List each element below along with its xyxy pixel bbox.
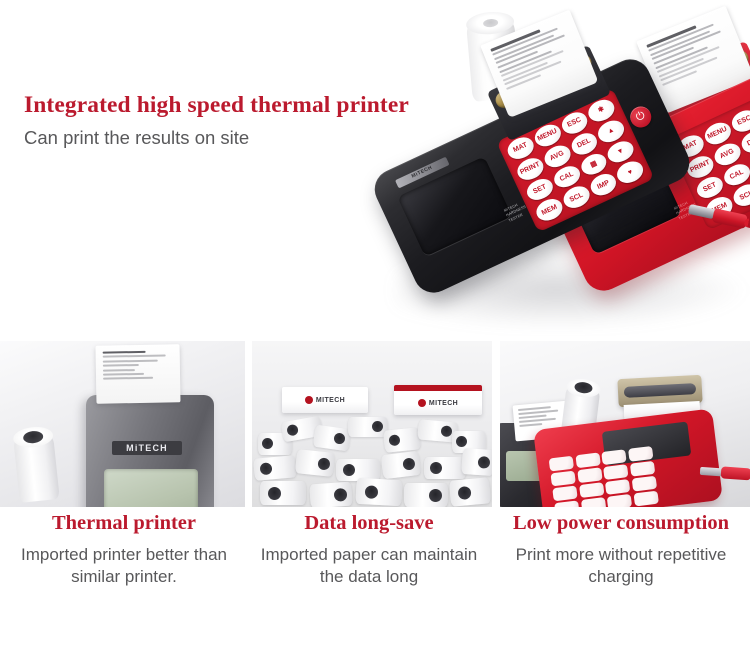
paper-roll [253, 455, 297, 481]
paper-roll [260, 481, 306, 505]
product-feature-page: MiTECH MAT MENU ESC ✱ PRINT AVG DEL ▲ SE… [0, 0, 750, 649]
hero-title: Integrated high speed thermal printer [24, 92, 454, 119]
thumbnail-strip: MiTECH MITECH MITECH [0, 341, 750, 507]
feature-captions: Thermal printer Imported printer better … [0, 512, 750, 622]
box-brand-label: MITECH [316, 397, 345, 404]
thumbnail-paper-rolls-stock[interactable]: MITECH MITECH [252, 341, 492, 507]
printer-roller [624, 383, 696, 398]
cable-wire [743, 218, 750, 239]
paper-roll [12, 425, 60, 503]
paper-roll [404, 483, 448, 507]
brand-logo-icon [305, 396, 313, 404]
feature-title: Thermal printer [0, 512, 248, 535]
paper-roll [383, 427, 421, 453]
paper-roll [424, 457, 466, 479]
thumbnail-thermal-printer-closeup[interactable]: MiTECH [0, 341, 245, 507]
feature-title: Data long-save [248, 512, 490, 535]
paper-roll [295, 449, 335, 477]
printed-receipt [96, 344, 181, 403]
power-button-icon[interactable]: ⏻ [627, 103, 655, 131]
feature-description: Imported printer better than similar pri… [0, 544, 248, 590]
hero-copy-block: Integrated high speed thermal printer Ca… [24, 92, 454, 149]
feature-low-power-consumption: Low power consumption Print more without… [492, 512, 750, 589]
feature-description: Imported paper can maintain the data lon… [248, 544, 490, 590]
paper-roll [461, 448, 492, 476]
product-box: MITECH [394, 385, 482, 415]
paper-roll [355, 478, 402, 506]
paper-roll [309, 482, 353, 507]
paper-roll [449, 477, 491, 506]
keypad-key[interactable]: ESC [728, 106, 750, 135]
brand-logo-icon [418, 399, 426, 407]
feature-thermal-printer: Thermal printer Imported printer better … [0, 512, 248, 589]
feature-title: Low power consumption [492, 512, 750, 535]
paper-roll [348, 417, 388, 437]
cable-metal-connector [700, 467, 723, 477]
cable-red-plug [721, 466, 750, 480]
feature-data-long-save: Data long-save Imported paper can mainta… [248, 512, 490, 589]
product-box: MITECH [282, 387, 368, 413]
device-keypad [549, 446, 659, 507]
device-lcd-display [104, 469, 198, 507]
paper-roll [381, 451, 422, 479]
feature-description: Print more without repetitive charging [492, 544, 750, 590]
gray-tester-device: MiTECH [86, 395, 214, 507]
device-brand-label: MiTECH [112, 441, 182, 455]
box-brand-label: MITECH [429, 400, 458, 407]
hero-product-photo: MiTECH MAT MENU ESC ✱ PRINT AVG DEL ▲ SE… [0, 0, 750, 336]
hero-banner: MiTECH MAT MENU ESC ✱ PRINT AVG DEL ▲ SE… [0, 0, 750, 336]
thumbnail-low-power-device[interactable] [500, 341, 750, 507]
hero-subtitle: Can print the results on site [24, 126, 454, 149]
